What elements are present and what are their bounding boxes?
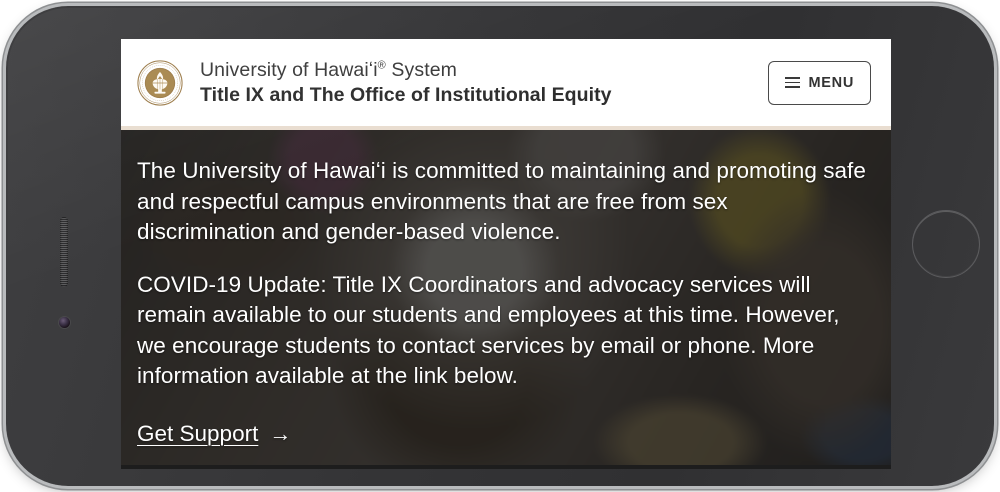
header-organization-name: University of Hawaiʻi® System [200, 58, 768, 83]
menu-button-label: MENU [809, 75, 855, 91]
header-org-suffix: System [386, 59, 457, 81]
site-header: University of Hawaiʻi® System Title IX a… [121, 39, 891, 130]
university-seal-logo[interactable] [137, 60, 183, 106]
header-site-title: Title IX and The Office of Institutional… [200, 83, 768, 108]
header-org-text: University of Hawaiʻi [200, 59, 378, 81]
menu-button[interactable]: MENU [768, 61, 872, 105]
hero-content: The University of Hawaiʻi is committed t… [121, 130, 891, 449]
header-titles: University of Hawaiʻi® System Title IX a… [200, 58, 768, 108]
arrow-right-icon: → [269, 423, 291, 445]
hero-paragraph-mission: The University of Hawaiʻi is committed t… [137, 156, 867, 248]
phone-device-frame: University of Hawaiʻi® System Title IX a… [6, 6, 994, 486]
hero-section: The University of Hawaiʻi is committed t… [121, 130, 891, 465]
phone-screen: University of Hawaiʻi® System Title IX a… [121, 39, 891, 469]
get-support-label: Get Support [137, 419, 258, 449]
hero-paragraph-covid-update: COVID-19 Update: Title IX Coordinators a… [137, 270, 867, 392]
earpiece-speaker-grille [60, 217, 68, 287]
hamburger-icon [785, 77, 800, 88]
front-camera-icon [59, 317, 70, 328]
get-support-link[interactable]: Get Support → [137, 419, 291, 449]
registered-trademark-icon: ® [378, 59, 386, 71]
home-button[interactable] [912, 210, 980, 278]
